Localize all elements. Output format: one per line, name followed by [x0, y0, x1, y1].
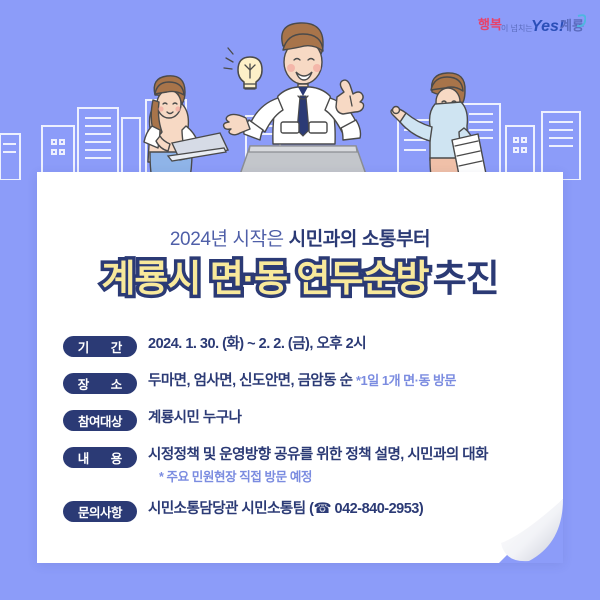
info-rows: 기 간 2024. 1. 30. (화) ~ 2. 2. (금), 오후 2시 … — [63, 335, 553, 537]
subtitle-plain: 2024년 시작은 — [170, 229, 289, 250]
value-content: 시정정책 및 운영방향 공유를 위한 정책 설명, 시민과의 대화 — [148, 446, 488, 466]
info-row-location: 장 소 두마면, 엄사면, 신도안면, 금암동 순 *1일 1개 면·동 방문 — [63, 372, 553, 394]
value-location: 두마면, 엄사면, 신도안면, 금암동 순 *1일 1개 면·동 방문 — [148, 372, 456, 392]
lightbulb-icon — [224, 48, 262, 89]
value-location-text: 두마면, 엄사면, 신도안면, 금암동 순 — [148, 373, 356, 389]
info-row-participants: 참여대상 계룡시민 누구나 — [63, 409, 553, 431]
content-card: 2024년 시작은 시민과의 소통부터 계룡시 면·동 연두순방추진 기 간 2… — [37, 172, 563, 563]
poster-root: .sk{fill:#f7d9c4;stroke:#4a4a4a;stroke-w… — [0, 0, 600, 600]
svg-text:이 넘치는: 이 넘치는 — [501, 23, 533, 33]
value-participants: 계룡시민 누구나 — [148, 409, 241, 429]
woman-with-laptop — [144, 76, 228, 182]
content-subnote: * 주요 민원현장 직접 방문 예정 — [159, 466, 553, 485]
label-location: 장 소 — [63, 373, 137, 394]
label-inquiry: 문의사항 — [63, 501, 137, 522]
main-title-yellow: 계룡시 면·동 연두순방 — [101, 258, 428, 299]
svg-text:행복: 행복 — [478, 17, 502, 32]
yes-gyeryong-logo-icon: 행복 이 넘치는 Yes! 계룡 — [478, 10, 586, 40]
value-location-note: *1일 1개 면·동 방문 — [356, 373, 456, 388]
poster-main-title: 계룡시 면·동 연두순방추진 — [37, 260, 563, 297]
value-inquiry: 시민소통담당관 시민소통팀 (☎ 042-840-2953) — [148, 500, 423, 520]
main-title-white: 추진 — [433, 258, 499, 299]
value-content-text: 시정정책 및 운영방향 공유를 위한 정책 설명, 시민과의 대화 — [148, 447, 488, 463]
woman-with-documents — [391, 73, 486, 184]
city-brand-logo: 행복 이 넘치는 Yes! 계룡 — [478, 10, 586, 40]
label-period: 기 간 — [63, 336, 137, 357]
value-participants-text: 계룡시민 누구나 — [148, 410, 241, 426]
man-at-podium — [224, 23, 364, 144]
info-row-content: 내 용 시정정책 및 운영방향 공유를 위한 정책 설명, 시민과의 대화 — [63, 446, 553, 468]
value-period: 2024. 1. 30. (화) ~ 2. 2. (금), 오후 2시 — [148, 335, 366, 355]
info-row-inquiry: 문의사항 시민소통담당관 시민소통팀 (☎ 042-840-2953) — [63, 500, 553, 522]
value-inquiry-text: 시민소통담당관 시민소통팀 (☎ 042-840-2953) — [148, 501, 423, 517]
label-content: 내 용 — [63, 447, 137, 468]
value-period-text: 2024. 1. 30. (화) ~ 2. 2. (금), 오후 2시 — [148, 336, 366, 352]
label-participants: 참여대상 — [63, 410, 137, 431]
info-row-period: 기 간 2024. 1. 30. (화) ~ 2. 2. (금), 오후 2시 — [63, 335, 553, 357]
subtitle-bold: 시민과의 소통부터 — [289, 229, 431, 250]
poster-subtitle: 2024년 시작은 시민과의 소통부터 — [37, 224, 563, 251]
